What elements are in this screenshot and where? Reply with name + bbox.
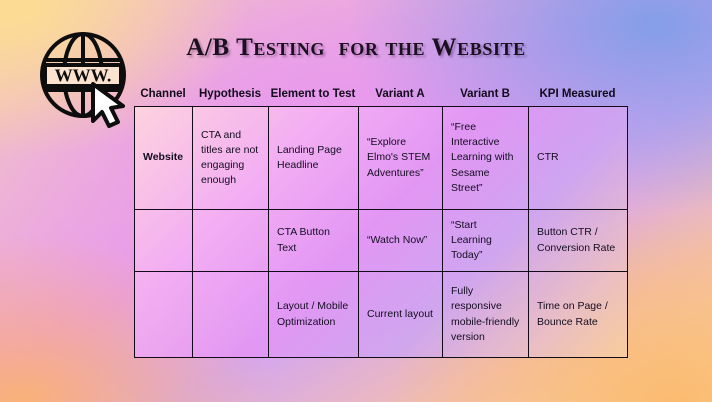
cell-channel: Website <box>135 107 193 210</box>
cell-variant-b: Fully responsive mobile-friendly version <box>443 272 529 358</box>
column-header-channel: Channel <box>134 84 192 104</box>
slide-canvas: WWW. A/B Testing for the Website Channel… <box>0 0 712 402</box>
cell-element: Landing Page Headline <box>269 107 359 210</box>
ab-testing-table: Website CTA and titles are not engaging … <box>134 106 628 358</box>
cell-variant-a: “Explore Elmo's STEM Adventures” <box>359 107 443 210</box>
column-header-variant-a: Variant A <box>358 84 442 104</box>
cell-kpi: Time on Page / Bounce Rate <box>529 272 628 358</box>
cell-variant-b: “Start Learning Today” <box>443 210 529 272</box>
table-column-headers: Channel Hypothesis Element to Test Varia… <box>134 84 627 104</box>
www-label: WWW. <box>55 66 112 86</box>
table-row: CTA Button Text “Watch Now” “Start Learn… <box>135 210 628 272</box>
column-header-hypothesis: Hypothesis <box>192 84 268 104</box>
page-title: A/B Testing for the Website <box>0 34 712 62</box>
table-row: Layout / Mobile Optimization Current lay… <box>135 272 628 358</box>
cell-kpi: Button CTR / Conversion Rate <box>529 210 628 272</box>
cell-hypothesis <box>193 272 269 358</box>
table-row: Website CTA and titles are not engaging … <box>135 107 628 210</box>
cell-channel <box>135 272 193 358</box>
cell-variant-a: Current layout <box>359 272 443 358</box>
cell-variant-b: “Free Interactive Learning with Sesame S… <box>443 107 529 210</box>
column-header-element: Element to Test <box>268 84 358 104</box>
column-header-variant-b: Variant B <box>442 84 528 104</box>
cell-element: Layout / Mobile Optimization <box>269 272 359 358</box>
cell-hypothesis <box>193 210 269 272</box>
cell-hypothesis: CTA and titles are not engaging enough <box>193 107 269 210</box>
cell-kpi: CTR <box>529 107 628 210</box>
column-header-kpi: KPI Measured <box>528 84 627 104</box>
cell-element: CTA Button Text <box>269 210 359 272</box>
cell-variant-a: “Watch Now” <box>359 210 443 272</box>
cell-channel <box>135 210 193 272</box>
